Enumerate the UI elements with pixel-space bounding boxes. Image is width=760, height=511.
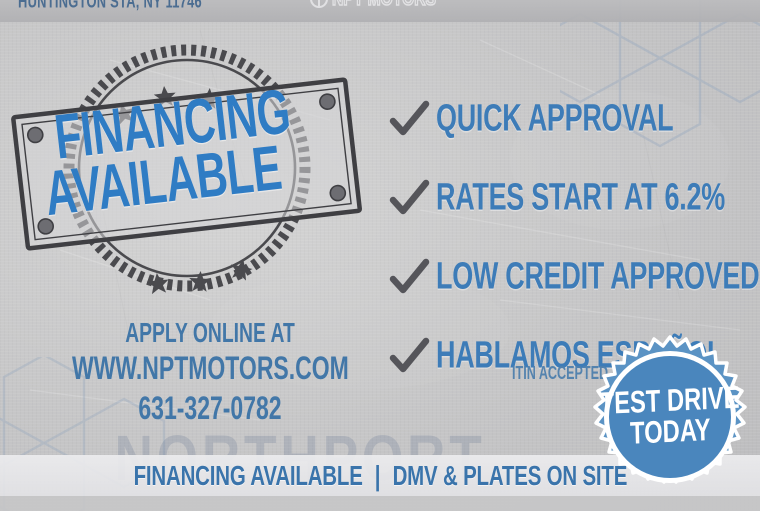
stamp-plaque xyxy=(13,80,360,249)
checklist-label: RATES START AT 6.2% xyxy=(436,177,725,220)
dealer-logo: NPT MOTORS xyxy=(310,0,445,9)
check-icon xyxy=(386,255,432,301)
stamp-graphic xyxy=(6,34,368,302)
financing-available-stamp: FINANCING AVAILABLE xyxy=(6,34,368,302)
top-banner: HUNTINGTON STA, NY 11746 NPT MOTORS xyxy=(0,0,760,22)
bottom-bar-separator: | xyxy=(374,459,380,492)
checklist-label: LOW CREDIT APPROVED xyxy=(436,256,759,299)
checklist-item-rates: RATES START AT 6.2% xyxy=(386,159,756,238)
check-icon xyxy=(386,176,432,222)
checklist-item-low-credit: LOW CREDIT APPROVED xyxy=(386,238,756,317)
website-url[interactable]: WWW.NPTMOTORS.COM xyxy=(72,351,348,389)
test-drive-badge-graphic xyxy=(586,333,754,501)
test-drive-badge[interactable]: TEST DRIVE TODAY xyxy=(586,333,754,501)
badge-inner-circle xyxy=(609,356,731,478)
checklist-label: QUICK APPROVAL xyxy=(436,98,673,141)
apply-online-label: APPLY ONLINE AT xyxy=(72,318,348,349)
apply-online-block: APPLY ONLINE AT WWW.NPTMOTORS.COM 631-32… xyxy=(60,322,360,424)
dealer-address: HUNTINGTON STA, NY 11746 xyxy=(18,0,202,12)
wheel-logo-icon xyxy=(310,0,328,8)
financing-advertisement: HUNTINGTON STA, NY 11746 NPT MOTORS xyxy=(0,0,760,511)
dealer-logo-text: NPT MOTORS xyxy=(332,0,436,11)
check-icon xyxy=(386,334,432,380)
checklist-item-quick-approval: QUICK APPROVAL xyxy=(386,80,756,159)
check-icon xyxy=(386,97,432,143)
bottom-bar-financing-text: FINANCING AVAILABLE xyxy=(133,459,362,492)
